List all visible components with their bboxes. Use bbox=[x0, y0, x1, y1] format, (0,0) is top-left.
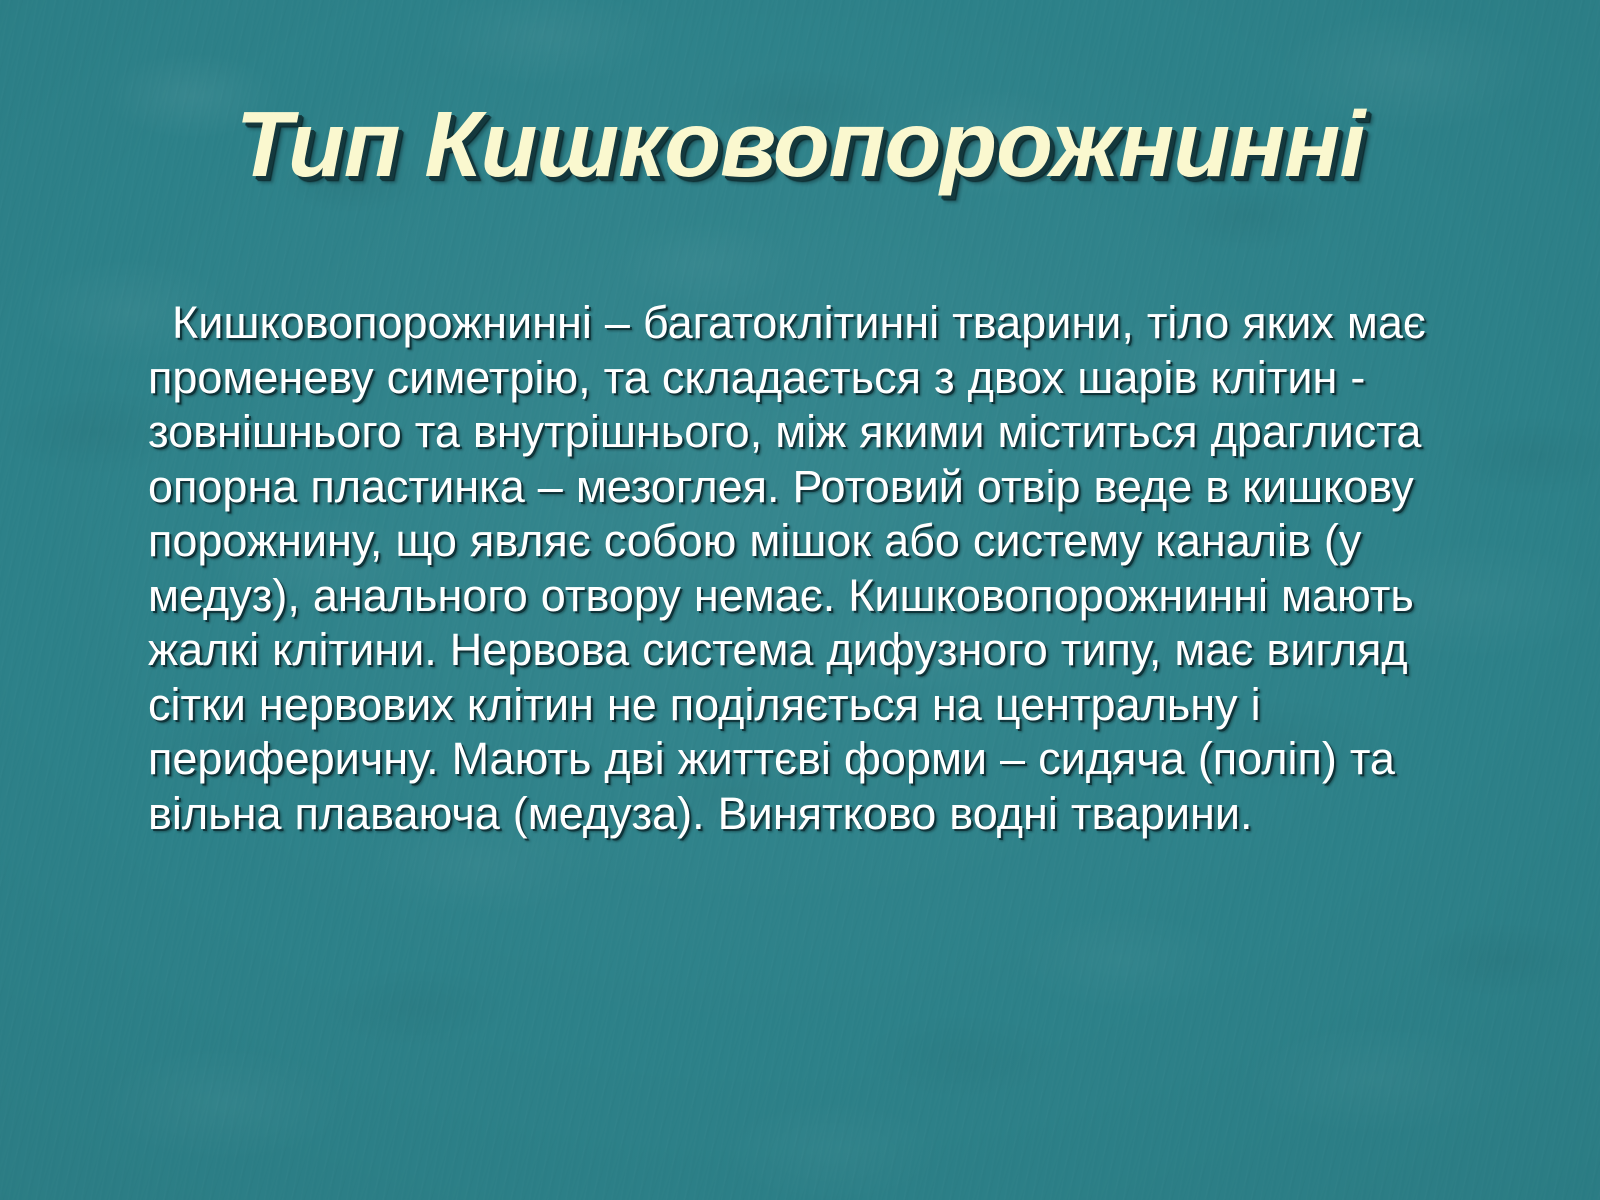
slide-title: Тип Кишковопорожнинні bbox=[0, 98, 1600, 191]
slide-body-text: Кишковопорожнинні – багатоклітинні твари… bbox=[148, 296, 1478, 841]
presentation-slide: Тип Кишковопорожнинні Кишковопорожнинні … bbox=[0, 0, 1600, 1200]
slide-body-container: Кишковопорожнинні – багатоклітинні твари… bbox=[148, 296, 1478, 841]
